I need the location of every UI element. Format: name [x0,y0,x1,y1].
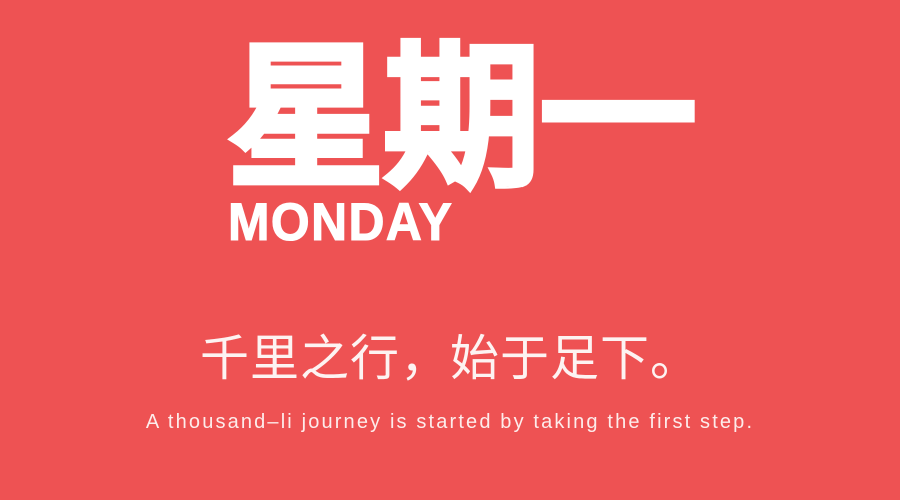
proverb-block: 千里之行，始于足下。 A thousand–li journey is star… [0,330,900,434]
day-name-cjk: 星期一 [228,40,696,196]
proverb-english: A thousand–li journey is started by taki… [146,410,754,434]
title-block: 星期一 MONDAY [228,40,696,249]
proverb-cjk: 千里之行，始于足下。 [200,330,700,388]
day-card: 星期一 MONDAY 千里之行，始于足下。 A thousand–li jour… [0,0,900,500]
day-name-english: MONDAY [228,196,453,249]
